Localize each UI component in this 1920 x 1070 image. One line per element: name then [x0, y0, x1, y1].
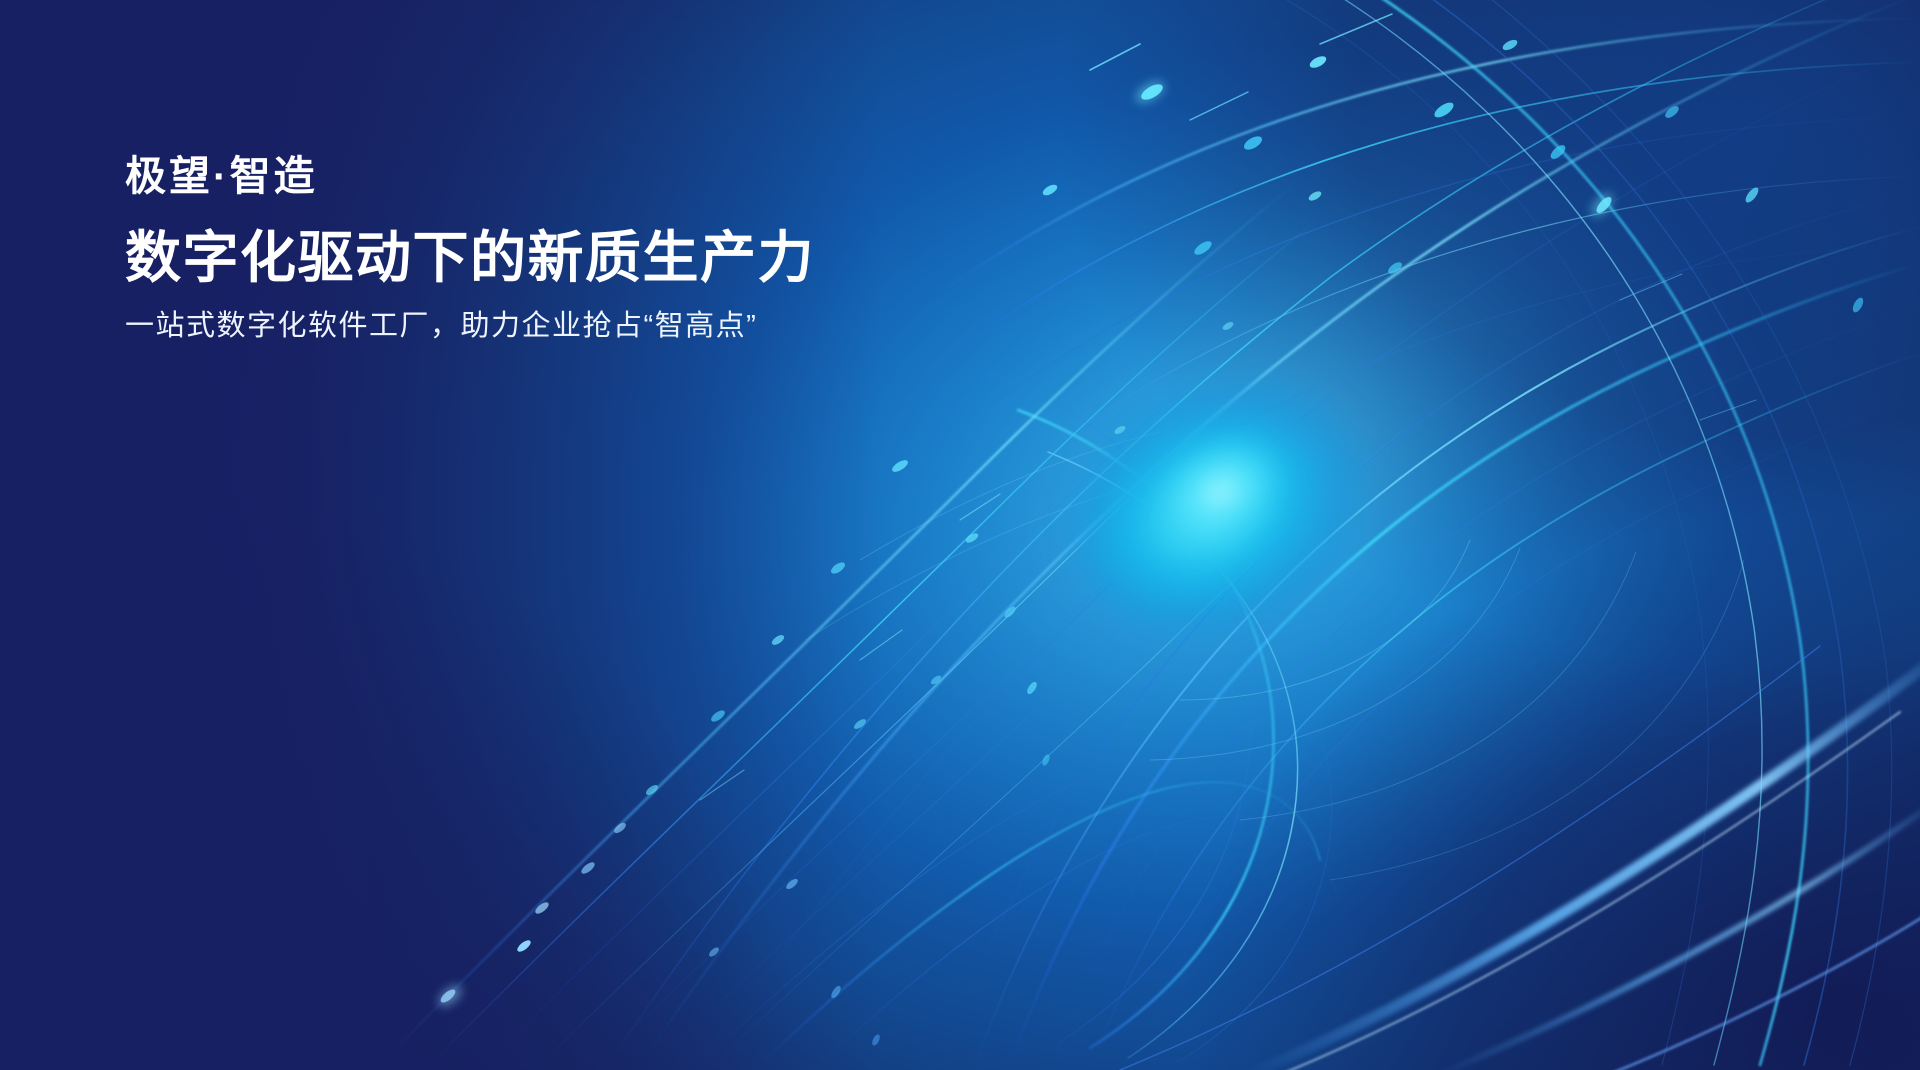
hero-tagline: 一站式数字化软件工厂，助力企业抢占“智高点” — [125, 308, 945, 346]
brand-title: 极望·智造 — [125, 152, 945, 200]
page-title: 数字化驱动下的新质生产力 — [125, 226, 945, 290]
hero-banner: 极望·智造 数字化驱动下的新质生产力 一站式数字化软件工厂，助力企业抢占“智高点… — [0, 0, 1920, 1070]
hero-text-block: 极望·智造 数字化驱动下的新质生产力 一站式数字化软件工厂，助力企业抢占“智高点… — [125, 152, 945, 346]
